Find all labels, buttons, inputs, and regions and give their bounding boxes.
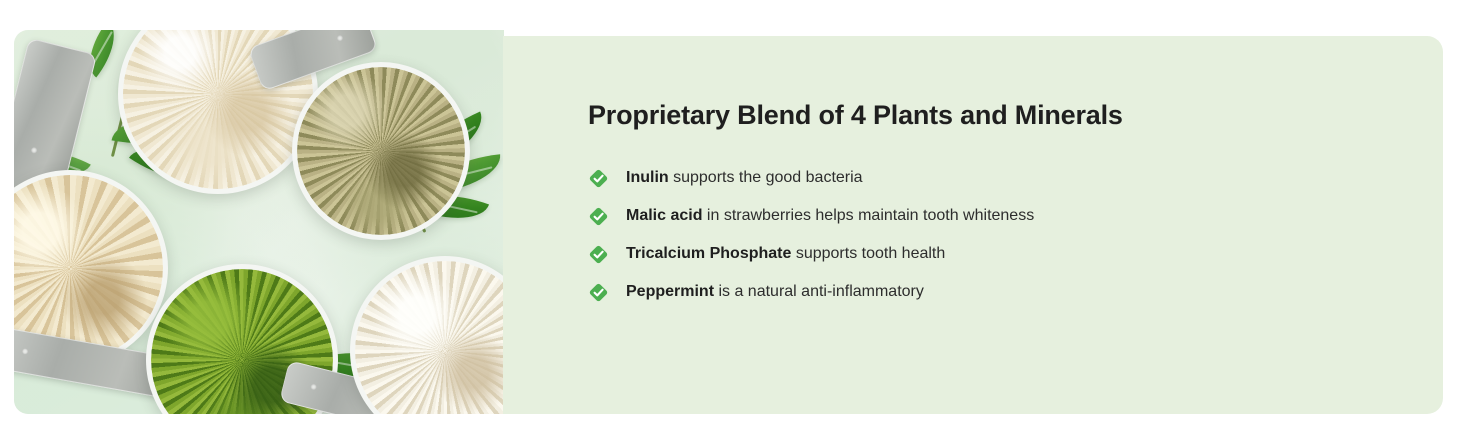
list-item: Malic acid in strawberries helps maintai… [588,205,1403,243]
bullet-text: Peppermint is a natural anti-inflammator… [626,281,924,302]
list-item: Tricalcium Phosphate supports tooth heal… [588,243,1403,281]
ingredient-benefit-list: Inulin supports the good bacteria Malic … [588,167,1403,319]
bullet-text: Malic acid in strawberries helps maintai… [626,205,1034,226]
check-diamond-icon [588,282,609,303]
check-diamond-icon [588,168,609,189]
ingredient-term: Inulin [626,169,669,186]
bullet-text: Inulin supports the good bacteria [626,167,863,188]
olive-herb-powder [297,67,465,235]
product-powders-photo [14,30,504,414]
ingredient-term: Tricalcium Phosphate [626,245,791,262]
panel-title: Proprietary Blend of 4 Plants and Minera… [588,98,1403,132]
ingredient-highlight-banner: Proprietary Blend of 4 Plants and Minera… [0,0,1458,436]
ingredient-term: Peppermint [626,283,714,300]
ingredient-description: in strawberries helps maintain tooth whi… [702,207,1034,224]
ingredient-description: is a natural anti-inflammatory [714,283,924,300]
bullet-text: Tricalcium Phosphate supports tooth heal… [626,243,945,264]
check-diamond-icon [588,244,609,265]
ingredient-description: supports tooth health [791,245,945,262]
oat-fiber-powder [355,261,504,414]
list-item: Inulin supports the good bacteria [588,167,1403,205]
panel-content: Proprietary Blend of 4 Plants and Minera… [588,98,1403,319]
scoop-cup [292,62,470,240]
ingredient-description: supports the good bacteria [669,169,863,186]
check-diamond-icon [588,206,609,227]
list-item: Peppermint is a natural anti-inflammator… [588,281,1403,319]
ingredient-info-panel: Proprietary Blend of 4 Plants and Minera… [503,36,1443,414]
ingredient-term: Malic acid [626,207,702,224]
